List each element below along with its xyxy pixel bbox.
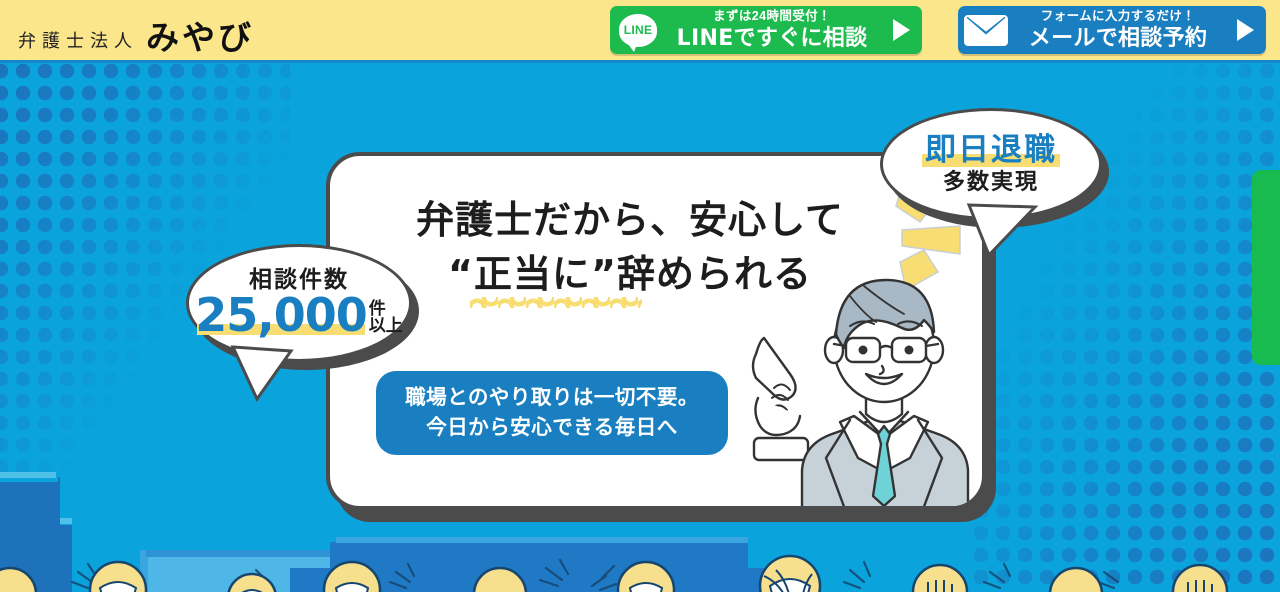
building-block-edge xyxy=(0,472,56,478)
site-logo[interactable]: 弁護士法人 みやび xyxy=(18,9,254,57)
wavy-underline-icon xyxy=(470,297,642,308)
crowd-illustration xyxy=(0,528,1280,592)
mail-button-text: フォームに入力するだけ！ メールで相談予約 xyxy=(1014,10,1224,49)
line-button-title: LINEですぐに相談 xyxy=(666,27,878,50)
bubble-right-tail xyxy=(965,203,1045,257)
play-arrow-icon xyxy=(1224,19,1266,41)
headline-line-1: 弁護士だから、安心して xyxy=(330,194,930,248)
bubble-right-subtitle: 多数実現 xyxy=(943,172,1039,194)
consultation-count-unit: 件 以上 xyxy=(369,301,403,337)
hero-sub-cta[interactable]: 職場とのやり取りは一切不要。 今日から安心できる毎日へ xyxy=(376,371,728,455)
consultation-count-number: 25,000 xyxy=(195,294,367,338)
line-badge-label: LINE xyxy=(624,23,653,37)
line-button-subtitle: まずは24時間受付！ xyxy=(666,10,878,23)
line-icon: LINE xyxy=(610,14,666,47)
bubble-left-tail xyxy=(227,345,297,401)
line-floating-tab[interactable] xyxy=(1252,170,1280,365)
lawyer-pointing-illustration xyxy=(746,262,986,510)
unit-bottom: 以上 xyxy=(369,318,403,335)
bubble-left-figure: 25,000 件 以上 xyxy=(195,294,403,338)
bubble-right-title: 即日退職 xyxy=(925,135,1057,166)
consultation-count-bubble: 相談件数 25,000 件 以上 xyxy=(186,244,412,362)
sub-cta-line-2: 今日から安心できる毎日へ xyxy=(426,413,678,443)
site-header: 弁護士法人 みやび LINE まずは24時間受付！ LINEですぐに相談 フォー… xyxy=(0,0,1280,60)
hero-card: 弁護士だから、安心して “正当に”辞められる 職場とのやり取りは一切不要。 今日… xyxy=(326,152,986,510)
line-consult-button[interactable]: LINE まずは24時間受付！ LINEですぐに相談 xyxy=(610,6,922,54)
line-button-text: まずは24時間受付！ LINEですぐに相談 xyxy=(666,10,880,49)
page-stage: 弁護士だから、安心して “正当に”辞められる 職場とのやり取りは一切不要。 今日… xyxy=(0,0,1280,592)
mail-button-subtitle: フォームに入力するだけ！ xyxy=(1014,10,1222,23)
mail-reservation-button[interactable]: フォームに入力するだけ！ メールで相談予約 xyxy=(958,6,1266,54)
same-day-resignation-bubble: 即日退職 多数実現 xyxy=(880,108,1102,220)
mail-button-title: メールで相談予約 xyxy=(1014,27,1222,50)
sub-cta-line-1: 職場とのやり取りは一切不要。 xyxy=(405,383,699,413)
brand-sub-label: 弁護士法人 xyxy=(18,27,138,53)
brand-main-label: みやび xyxy=(146,11,254,59)
envelope-icon xyxy=(958,15,1014,46)
play-arrow-icon xyxy=(880,19,922,41)
